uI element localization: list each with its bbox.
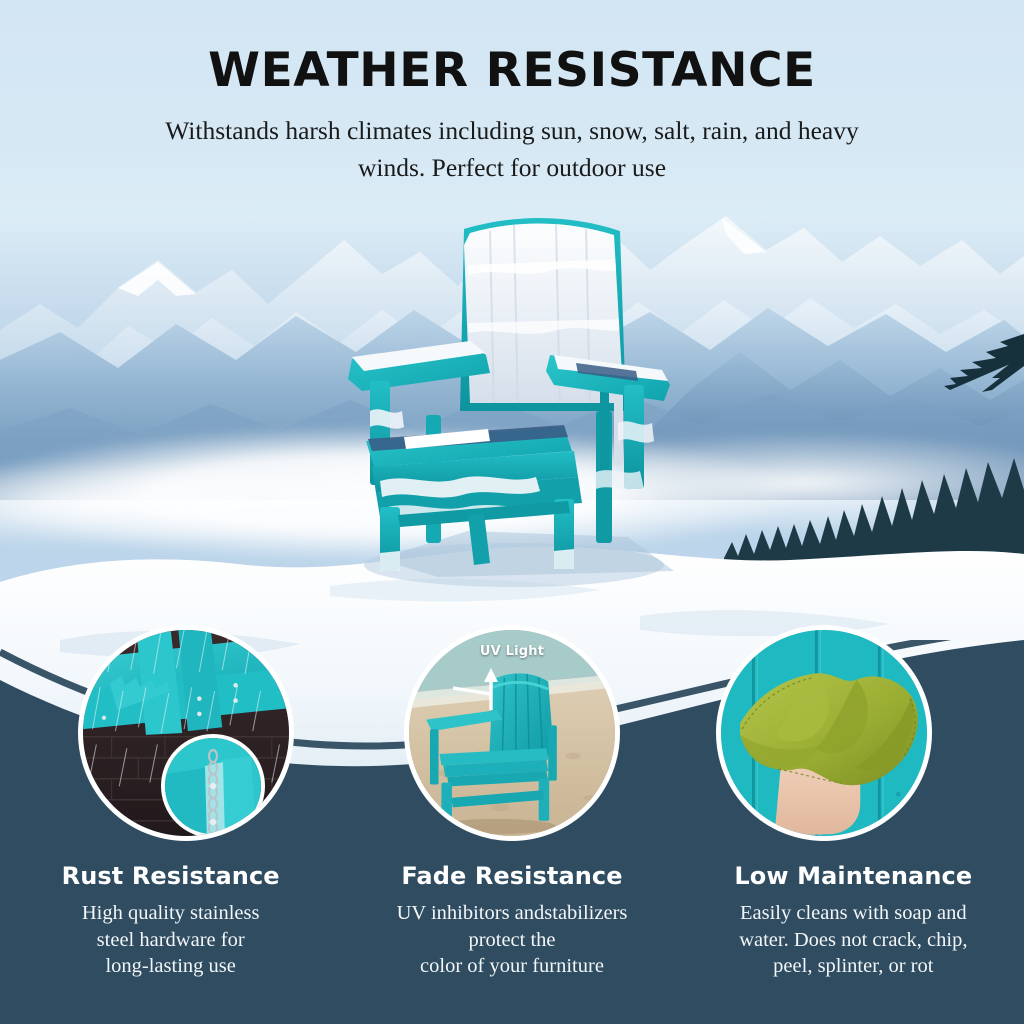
feature-image-low-maintenance bbox=[716, 625, 932, 841]
infographic-poster: WEATHER RESISTANCE Withstands harsh clim… bbox=[0, 0, 1024, 1024]
caption-rust-resistance: Rust Resistance High quality stainless s… bbox=[0, 862, 341, 980]
cloth-wiping-scene bbox=[721, 630, 927, 836]
caption-title-rust-resistance: Rust Resistance bbox=[14, 862, 327, 890]
uv-light-label: UV Light bbox=[409, 644, 615, 659]
caption-title-low-maintenance: Low Maintenance bbox=[697, 862, 1010, 890]
caption-body-fade-resistance: UV inhibitors andstabilizers protect the… bbox=[355, 900, 668, 980]
header-block: WEATHER RESISTANCE Withstands harsh clim… bbox=[0, 46, 1024, 187]
caption-title-fade-resistance: Fade Resistance bbox=[355, 862, 668, 890]
feature-image-fade-resistance: UV Light bbox=[404, 625, 620, 841]
caption-low-maintenance: Low Maintenance Easily cleans with soap … bbox=[683, 862, 1024, 980]
caption-body-rust-resistance: High quality stainless steel hardware fo… bbox=[14, 900, 327, 980]
hardware-closeup-inset bbox=[161, 734, 265, 838]
feature-captions: Rust Resistance High quality stainless s… bbox=[0, 862, 1024, 980]
feature-circles: UV Light bbox=[0, 600, 1024, 870]
caption-fade-resistance: Fade Resistance UV inhibitors andstabili… bbox=[341, 862, 682, 980]
pine-branch bbox=[904, 300, 1024, 420]
page-subtitle: Withstands harsh climates including sun,… bbox=[162, 113, 862, 187]
feature-image-rust-resistance bbox=[78, 625, 294, 841]
uv-light-arrow-icon bbox=[447, 660, 527, 712]
caption-body-low-maintenance: Easily cleans with soap and water. Does … bbox=[697, 900, 1010, 980]
page-title: WEATHER RESISTANCE bbox=[0, 46, 1024, 95]
hero-snow-covered-chair bbox=[318, 215, 698, 595]
